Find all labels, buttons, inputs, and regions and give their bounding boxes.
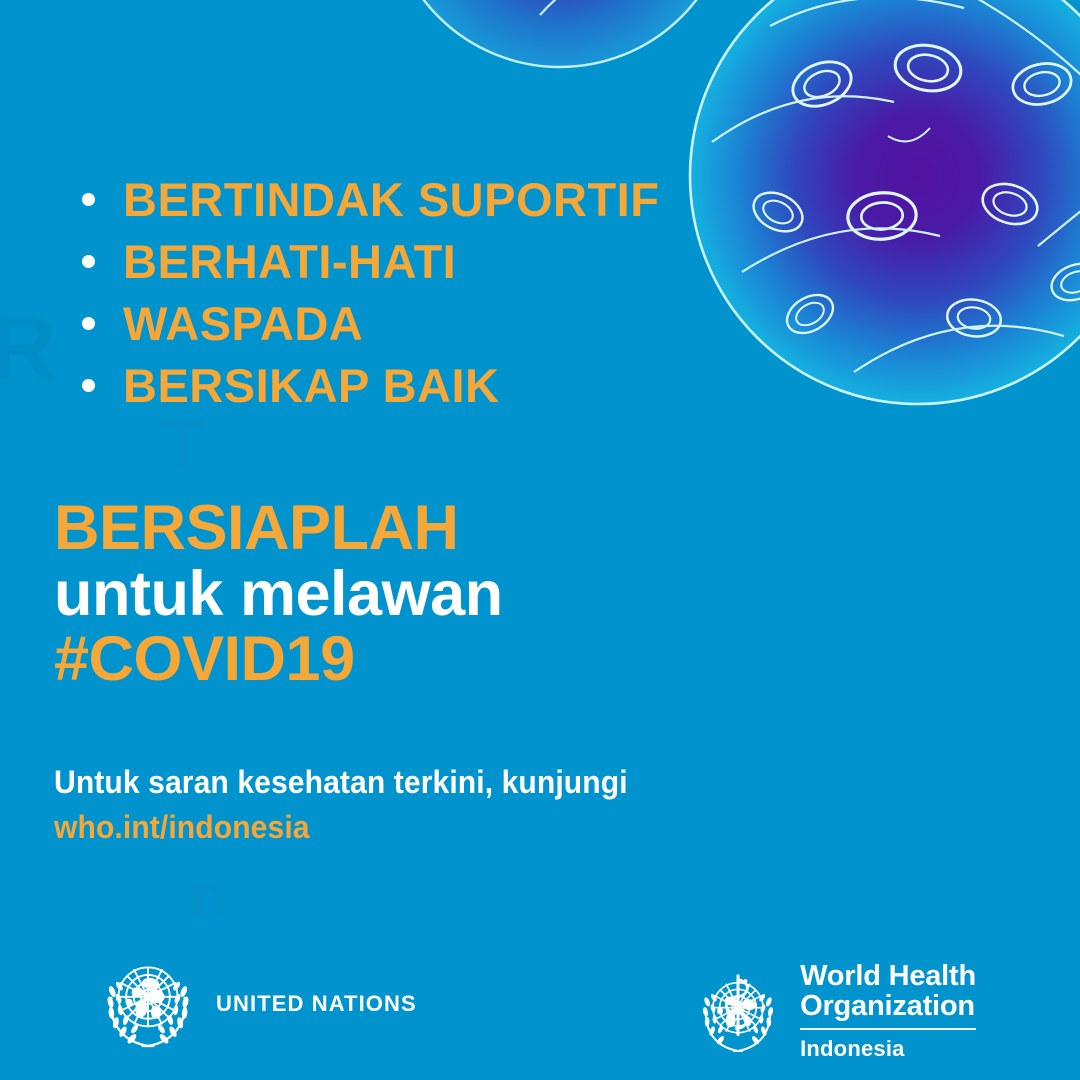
list-item: WASPADA bbox=[54, 292, 954, 354]
who-globe-asclepius-icon bbox=[688, 963, 788, 1059]
bullet-label: BERHATI-HATI bbox=[123, 238, 456, 285]
un-logo: UNITED NATIONS bbox=[94, 954, 417, 1054]
headline-line-2: untuk melawan bbox=[54, 562, 503, 628]
poster-root: R T n K bbox=[0, 0, 1080, 1080]
background-watermark-1: R bbox=[0, 296, 58, 401]
bullet-label: BERTINDAK SUPORTIF bbox=[123, 176, 659, 223]
un-wordmark: UNITED NATIONS bbox=[216, 991, 417, 1017]
background-watermark-3: n bbox=[190, 860, 229, 929]
advice-url[interactable]: who.int/indonesia bbox=[54, 805, 628, 850]
who-line-2: Organization bbox=[800, 991, 976, 1021]
advice-block: Untuk saran kesehatan terkini, kunjungi … bbox=[54, 760, 664, 851]
who-country-label: Indonesia bbox=[800, 1036, 976, 1062]
list-item: BERTINDAK SUPORTIF bbox=[54, 168, 954, 230]
list-item: BERHATI-HATI bbox=[54, 230, 954, 292]
background-watermark-2: T bbox=[160, 404, 205, 484]
bullet-dot-icon bbox=[82, 255, 95, 268]
who-line-1: World Health bbox=[800, 961, 976, 991]
un-globe-laurel-icon bbox=[94, 954, 202, 1054]
bullet-dot-icon bbox=[82, 193, 95, 206]
who-logo: World Health Organization Indonesia bbox=[688, 957, 976, 1062]
key-actions-list: BERTINDAK SUPORTIF BERHATI-HATI WASPADA … bbox=[54, 168, 954, 416]
bullet-label: BERSIKAP BAIK bbox=[123, 362, 499, 409]
bullet-dot-icon bbox=[82, 317, 95, 330]
headline-block: BERSIAPLAH untuk melawan #COVID19 bbox=[54, 496, 503, 693]
headline-line-1: BERSIAPLAH bbox=[54, 496, 503, 562]
advice-prompt: Untuk saran kesehatan terkini, kunjungi bbox=[54, 760, 628, 805]
headline-line-3: #COVID19 bbox=[54, 627, 503, 693]
bullet-dot-icon bbox=[82, 379, 95, 392]
who-divider bbox=[800, 1028, 976, 1030]
who-wordmark-block: World Health Organization Indonesia bbox=[800, 957, 976, 1062]
list-item: BERSIKAP BAIK bbox=[54, 354, 954, 416]
bullet-label: WASPADA bbox=[123, 300, 363, 347]
